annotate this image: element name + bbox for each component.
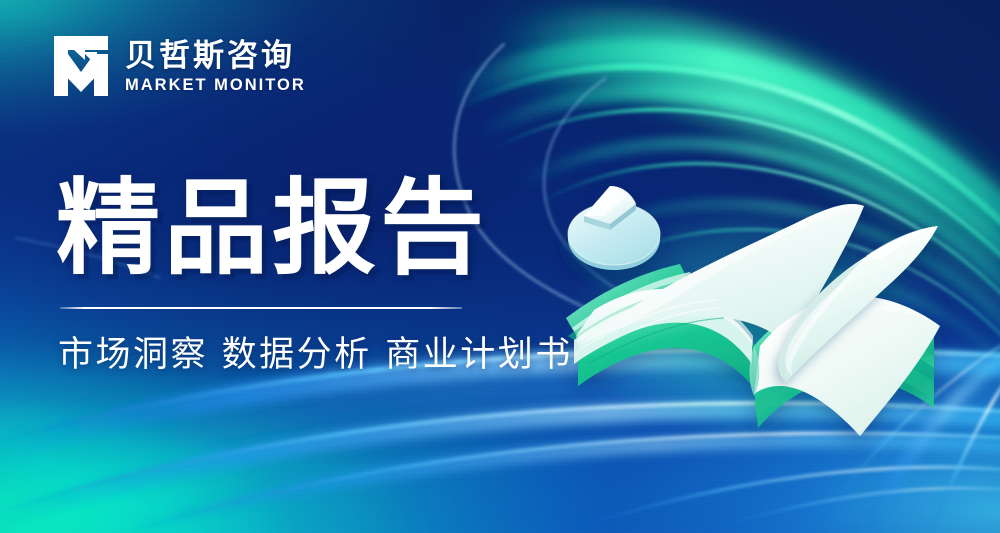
company-name-en: MARKET MONITOR xyxy=(125,76,306,94)
market-monitor-m-logo-icon xyxy=(52,34,110,98)
page-subtitle: 市场洞察 数据分析 商业计划书 xyxy=(58,334,573,378)
page-title: 精品报告 xyxy=(56,176,488,280)
brand-logo-text: 贝哲斯咨询 MARKET MONITOR xyxy=(125,38,306,94)
brand-logo[interactable]: 贝哲斯咨询 MARKET MONITOR xyxy=(52,34,306,98)
open-book-with-pie-chart-illustration xyxy=(548,150,948,450)
company-name-cn: 贝哲斯咨询 xyxy=(125,40,306,73)
title-divider xyxy=(60,307,462,309)
pie-chart-disc xyxy=(568,186,660,270)
promo-banner: 贝哲斯咨询 MARKET MONITOR 精品报告 市场洞察 数据分析 商业计划… xyxy=(0,0,1000,533)
